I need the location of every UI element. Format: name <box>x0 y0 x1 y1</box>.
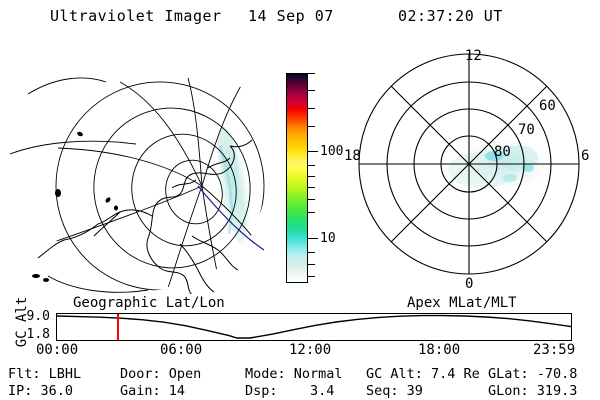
colorbar-legend: photon cm-2s-1 100 10 <box>266 40 332 296</box>
geographic-map-panel[interactable] <box>2 38 266 294</box>
strip-xtick: 06:00 <box>160 342 202 358</box>
mlt-label-0: 0 <box>465 276 473 292</box>
antarctica-coastline <box>38 140 252 294</box>
colorbar-tick <box>308 126 315 127</box>
mlt-label-6: 6 <box>581 148 589 164</box>
mlat-label-70: 70 <box>518 122 535 138</box>
strip-xtick: 18:00 <box>418 342 460 358</box>
mlt-label-18: 18 <box>344 148 361 164</box>
header-bar: Ultraviolet Imager 14 Sep 07 02:37:20 UT <box>0 4 600 28</box>
colorbar-tick-major <box>308 151 318 152</box>
mlt-label-12: 12 <box>465 48 482 64</box>
aurora-emission-geo <box>210 124 259 251</box>
status-glon: GLon: 319.3 <box>488 383 577 399</box>
colorbar-tick <box>308 264 315 265</box>
page-title: Ultraviolet Imager <box>50 7 222 25</box>
strip-xtick: 23:59 <box>533 342 575 358</box>
altitude-trace <box>57 314 571 340</box>
observation-time: 02:37:20 UT <box>398 7 503 25</box>
colorbar-tick-major <box>308 238 318 239</box>
apex-polar-svg: 12 6 0 18 60 70 80 <box>332 38 598 294</box>
status-dsp: Dsp: 3.4 <box>245 383 334 399</box>
coastline-islands <box>32 131 118 282</box>
mlat-label-80: 80 <box>494 144 511 160</box>
mlt-spokes <box>359 54 579 274</box>
colorbar-tick <box>308 252 315 253</box>
mlat-label-60: 60 <box>539 98 556 114</box>
colorbar-tick <box>308 108 315 109</box>
strip-plot-box[interactable] <box>56 313 572 341</box>
strip-ytick-bottom: 1.8 <box>20 327 50 342</box>
status-filter: Flt: LBHL <box>8 366 81 382</box>
status-gc-alt: GC Alt: 7.4 Re <box>366 366 480 382</box>
status-mode: Mode: Normal <box>245 366 343 382</box>
time-cursor[interactable] <box>117 314 119 340</box>
colorbar-tick <box>308 187 315 188</box>
status-gain: Gain: 14 <box>120 383 185 399</box>
colorbar-tick <box>308 73 315 74</box>
apex-panel-caption: Apex MLat/MLT <box>404 295 520 311</box>
status-glat: GLat: -70.8 <box>488 366 577 382</box>
colorbar-tick <box>308 165 315 166</box>
status-door: Door: Open <box>120 366 201 382</box>
colorbar-tick <box>308 276 315 277</box>
colorbar-tick <box>308 212 315 213</box>
geographic-panel-caption: Geographic Lat/Lon <box>70 295 228 311</box>
status-ip: IP: 36.0 <box>8 383 73 399</box>
colorbar-tick <box>308 176 315 177</box>
status-seq: Seq: 39 <box>366 383 423 399</box>
strip-xtick: 00:00 <box>36 342 78 358</box>
ultraviolet-imager-window: Ultraviolet Imager 14 Sep 07 02:37:20 UT <box>0 0 600 400</box>
status-bar: Flt: LBHL Door: Open Mode: Normal GC Alt… <box>0 362 600 400</box>
geographic-map-svg <box>2 38 266 294</box>
strip-xtick: 12:00 <box>289 342 331 358</box>
observation-date: 14 Sep 07 <box>248 7 334 25</box>
apex-polar-panel[interactable]: 12 6 0 18 60 70 80 <box>332 38 598 294</box>
strip-ytick-top: 9.0 <box>20 309 50 324</box>
colorbar-tick <box>308 199 315 200</box>
colorbar-tick <box>308 90 315 91</box>
colorbar-gradient[interactable] <box>286 73 308 283</box>
orbit-altitude-strip-plot[interactable]: GC Alt 9.0 1.8 Geographic Lat/Lon Apex M… <box>0 296 600 358</box>
